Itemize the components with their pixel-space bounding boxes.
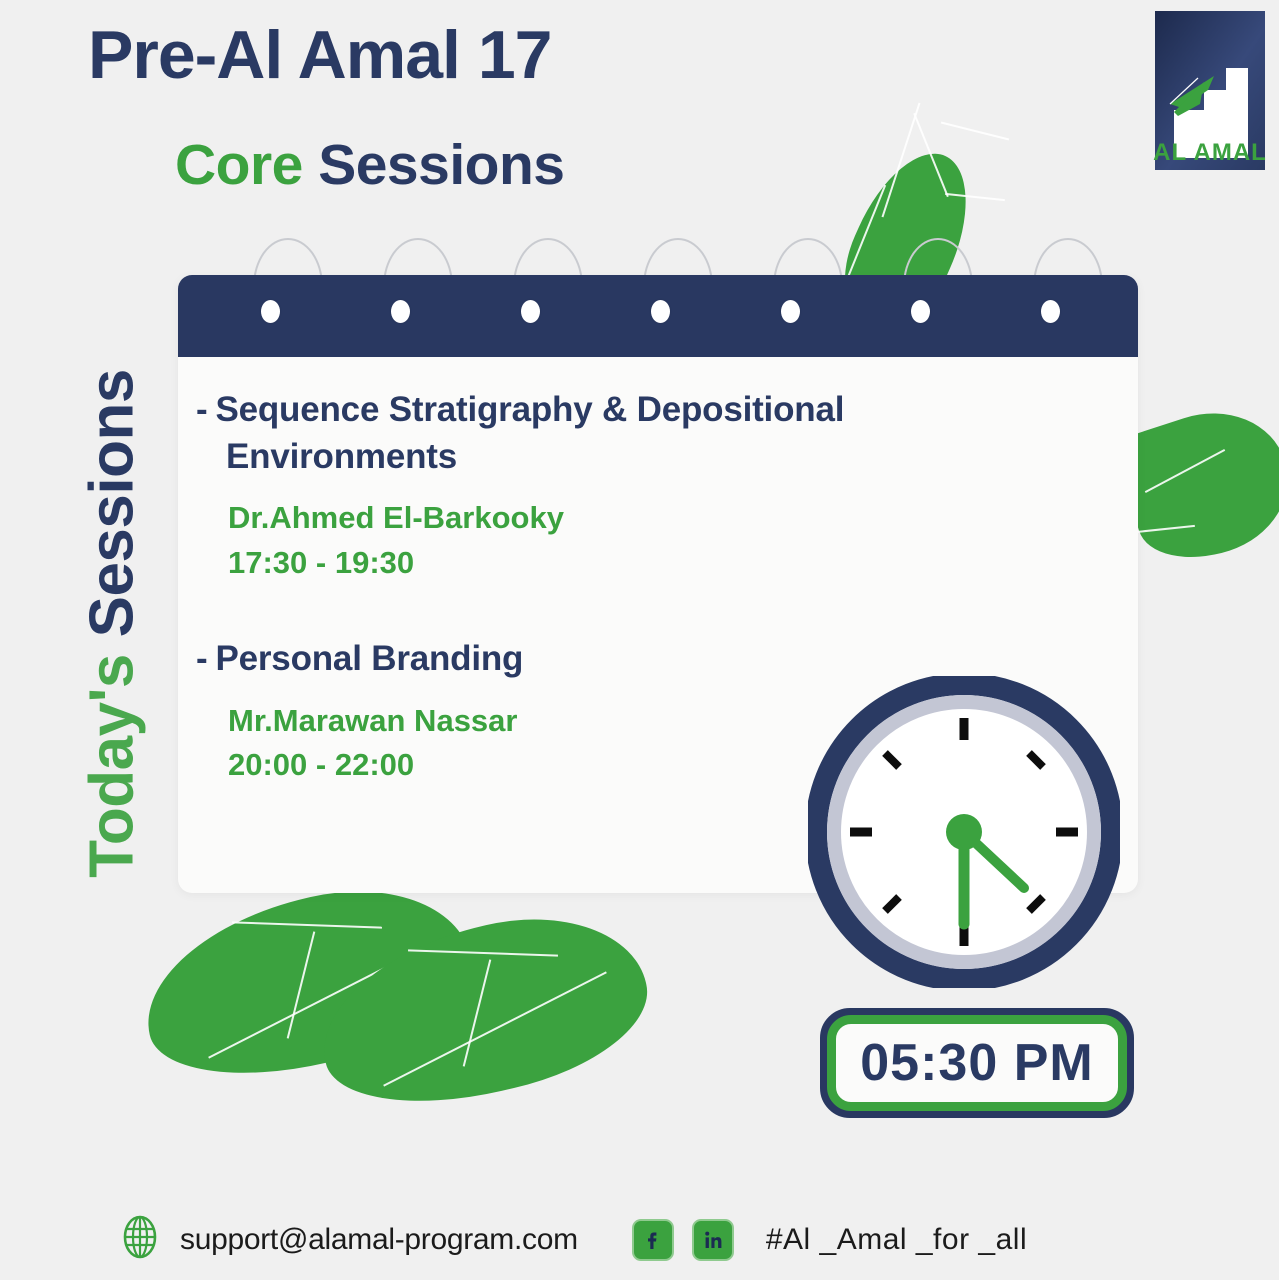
- leaf-vein: [1135, 525, 1195, 533]
- al-amal-logo: AL AMAL: [1152, 8, 1268, 173]
- leaf-vein: [383, 971, 607, 1086]
- side-label: Today's Sessions: [77, 304, 148, 944]
- hashtag-text: #Al _Amal _for _all: [766, 1223, 1027, 1257]
- facebook-icon[interactable]: [632, 1219, 674, 1261]
- svg-text:AL AMAL: AL AMAL: [1153, 139, 1267, 166]
- globe-icon: [118, 1215, 162, 1264]
- session-speaker: Dr.Ahmed El-Barkooky: [196, 496, 1138, 541]
- binder-ring-hole: [651, 300, 670, 323]
- binder-ring-hole: [521, 300, 540, 323]
- leaf-vein: [1145, 449, 1225, 493]
- logo-icon: AL AMAL: [1152, 8, 1268, 173]
- binder-ring-hole: [261, 300, 280, 323]
- page-subtitle-rest: Sessions: [303, 133, 565, 197]
- poster-canvas: Pre-Al Amal 17 Core Sessions Today's Ses…: [0, 0, 1279, 1280]
- linkedin-icon[interactable]: [692, 1219, 734, 1261]
- binder-ring-hole: [781, 300, 800, 323]
- page-subtitle-accent: Core: [175, 133, 303, 197]
- leaf-vein: [408, 949, 558, 956]
- side-label-accent: Today's: [78, 654, 147, 878]
- binder-ring-hole: [391, 300, 410, 323]
- session-item: -Sequence Stratigraphy & Depositional En…: [178, 357, 1138, 586]
- binder-ring-hole: [1041, 300, 1060, 323]
- page-title: Pre-Al Amal 17: [88, 16, 551, 94]
- page-subtitle: Core Sessions: [175, 132, 565, 198]
- leaf-vein: [232, 921, 382, 928]
- support-email[interactable]: support@alamal-program.com: [180, 1223, 578, 1257]
- session-title-line2: Environments: [196, 434, 1138, 481]
- session-title-line1: Sequence Stratigraphy & Depositional: [215, 390, 844, 429]
- leaf-vein: [945, 193, 1005, 201]
- time-badge-value: 05:30 PM: [860, 1033, 1093, 1093]
- leaf-vein: [941, 122, 1009, 141]
- clock-face: [808, 676, 1120, 988]
- time-badge: 05:30 PM: [820, 1008, 1134, 1118]
- leaf-decoration-bottom-left-2: [304, 893, 663, 1128]
- session-dash: -: [196, 390, 207, 429]
- leaf-decoration-bottom-left: [128, 865, 487, 1100]
- footer: support@alamal-program.com #Al _Amal _fo…: [118, 1215, 1027, 1264]
- session-title-line1: Personal Branding: [215, 639, 523, 678]
- session-title: -Sequence Stratigraphy & Depositional En…: [196, 387, 1138, 480]
- leaf-vein: [882, 103, 921, 218]
- analog-clock-icon: [808, 676, 1120, 988]
- leaf-vein: [913, 113, 949, 197]
- session-time: 17:30 - 19:30: [196, 541, 1138, 586]
- side-label-rest: Sessions: [78, 369, 147, 654]
- clock-center-hub: [946, 814, 982, 850]
- leaf-vein: [287, 931, 316, 1038]
- leaf-vein: [463, 959, 492, 1066]
- leaf-vein: [208, 943, 432, 1058]
- session-dash: -: [196, 639, 207, 678]
- binder-ring-hole: [911, 300, 930, 323]
